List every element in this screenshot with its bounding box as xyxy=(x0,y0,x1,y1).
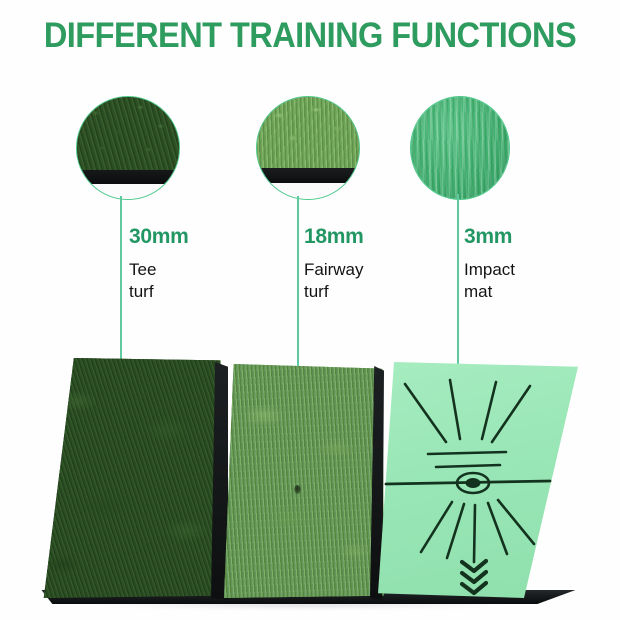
tee-turf-closeup-icon xyxy=(76,96,180,200)
callout-name-impact-line2: mat xyxy=(464,281,515,303)
tee-turf-panel xyxy=(40,358,228,598)
impact-mat-closeup-icon xyxy=(410,96,510,200)
radiating-line-top-left-inner xyxy=(450,380,460,439)
infographic-canvas: DIFFERENT TRAINING FUNCTIONS 30mm Tee tu… xyxy=(0,0,620,620)
callout-thickness-impact: 3mm xyxy=(464,226,515,247)
page-title: DIFFERENT TRAINING FUNCTIONS xyxy=(22,16,599,56)
callout-name-tee: Tee turf xyxy=(129,259,189,303)
radiating-line-top-right-inner xyxy=(482,382,496,439)
fairway-divot-mark xyxy=(294,485,301,494)
radiating-line-bottom-center xyxy=(474,505,475,562)
radiating-line-bottom-right-outer xyxy=(498,500,534,544)
fairway-turf-backing xyxy=(257,168,359,182)
callout-name-fairway-line2: turf xyxy=(304,281,364,303)
golf-hitting-mat-photo xyxy=(0,340,620,620)
callout-name-fairway-line1: Fairway xyxy=(304,260,364,279)
direction-chevron-3 xyxy=(462,583,486,593)
direction-chevron-2 xyxy=(462,572,486,582)
radiating-line-bottom-left-inner xyxy=(447,504,464,558)
callout-thickness-tee: 30mm xyxy=(129,226,189,247)
radiating-line-bottom-left-outer xyxy=(421,502,452,552)
fairway-turf-fibers xyxy=(257,97,359,168)
callout-label-fairway: 18mm Fairway turf xyxy=(304,226,364,303)
callout-label-impact: 3mm Impact mat xyxy=(464,226,515,303)
impact-mat-markings xyxy=(378,362,578,598)
radiating-line-bottom-right-inner xyxy=(488,503,507,554)
callout-label-tee: 30mm Tee turf xyxy=(129,226,189,303)
ball-target-dot xyxy=(466,478,481,488)
radiating-line-top-right-outer xyxy=(492,386,530,442)
closeup-background xyxy=(257,183,359,199)
callout-name-impact: Impact mat xyxy=(464,259,515,303)
callout-thickness-fairway: 18mm xyxy=(304,226,364,247)
fairway-turf-panel xyxy=(224,364,384,598)
tee-turf-fibers xyxy=(77,97,179,170)
impact-mat-surface xyxy=(411,97,509,199)
tee-turf-backing xyxy=(77,170,179,183)
callout-name-impact-line1: Impact xyxy=(464,260,515,279)
fairway-turf-closeup-icon xyxy=(256,96,360,200)
callout-name-tee-line1: Tee xyxy=(129,260,156,279)
closeup-background xyxy=(77,184,179,199)
stance-line-lower xyxy=(436,465,500,467)
callout-name-fairway: Fairway turf xyxy=(304,259,364,303)
stance-line-upper xyxy=(428,452,506,454)
radiating-line-top-left-outer xyxy=(405,384,446,442)
callout-name-tee-line2: turf xyxy=(129,281,189,303)
